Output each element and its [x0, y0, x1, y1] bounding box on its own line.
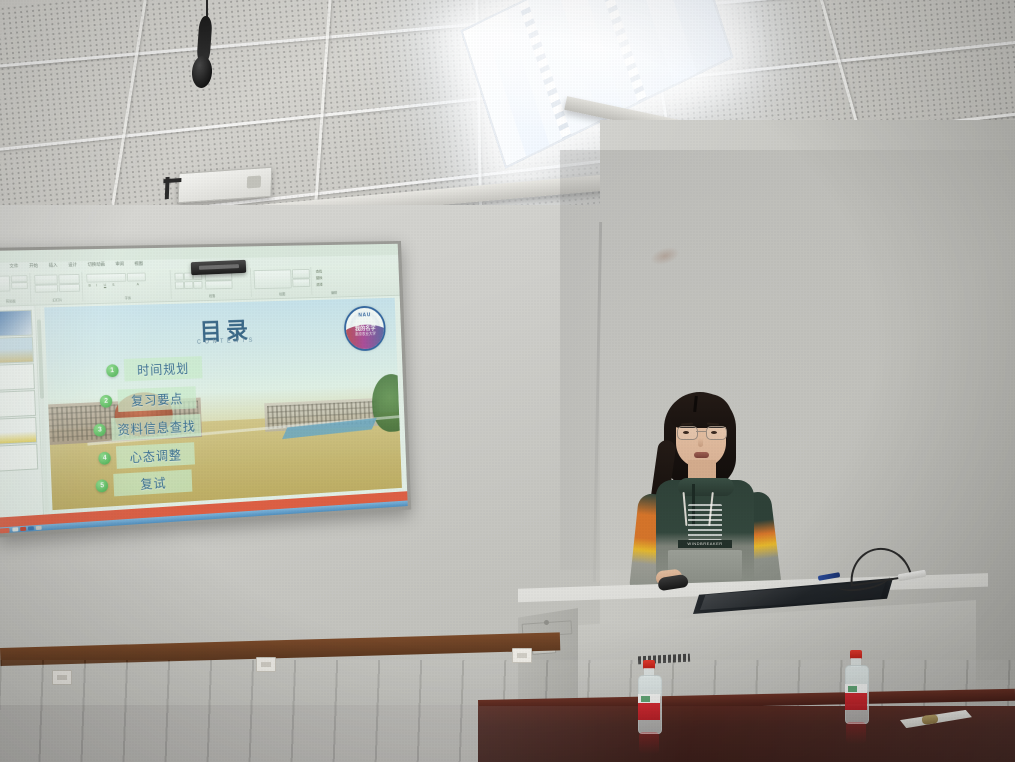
replace-button[interactable]: 替换: [316, 276, 322, 281]
convert-smartart-button[interactable]: [205, 280, 233, 289]
slide-thumbnail-5[interactable]: [0, 417, 37, 445]
slide-thumbnail-3[interactable]: [0, 363, 35, 390]
select-button[interactable]: 选择: [316, 283, 322, 288]
paste-button[interactable]: [0, 275, 10, 291]
underline-button[interactable]: U: [104, 283, 107, 287]
jacket-print: [688, 504, 722, 540]
bottle-label-right: [845, 684, 867, 710]
mouth: [694, 452, 709, 458]
slide-item-label-2: 复习要点: [117, 386, 196, 412]
font-color-button[interactable]: A: [137, 282, 139, 286]
slide-thumbnail-2[interactable]: [0, 337, 34, 364]
shapes-gallery[interactable]: [254, 269, 292, 289]
ribbon-group-drawing[interactable]: 绘图: [252, 267, 313, 297]
tab-view[interactable]: 视图: [134, 260, 143, 266]
wall-outlet-1[interactable]: [52, 670, 72, 685]
tab-design[interactable]: 设计: [68, 262, 77, 268]
taskbar-icon-explorer[interactable]: [12, 527, 18, 532]
strikethrough-button[interactable]: S: [112, 283, 114, 287]
bold-button[interactable]: B: [88, 284, 90, 288]
slide-item-number-3: 3: [93, 423, 106, 436]
water-bottle-left[interactable]: [636, 660, 662, 732]
align-left-button[interactable]: [175, 281, 185, 289]
projection-screen: 文件 开始 插入 设计 切换动画 审阅 视图 剪贴板: [0, 241, 411, 538]
align-center-button[interactable]: [184, 281, 193, 289]
speaker-bracket-vertical: [165, 177, 170, 199]
ribbon-group-label-paragraph: 段落: [172, 292, 251, 299]
bottle-reflection-left: [639, 732, 659, 754]
slide-item-number-2: 2: [100, 395, 113, 408]
ribbon-group-font[interactable]: B I U S A 字体: [83, 270, 172, 301]
slide-item-number-1: 1: [106, 364, 119, 377]
tab-transitions[interactable]: 切换动画: [87, 261, 105, 267]
section-button[interactable]: [59, 284, 80, 292]
slide-thumbnail-4[interactable]: [0, 390, 36, 418]
ribbon-group-editing[interactable]: 查找 替换 选择 编辑: [312, 266, 355, 295]
ribbon-group-slides[interactable]: 幻灯片: [31, 272, 83, 303]
align-right-button[interactable]: [193, 281, 202, 289]
nose: [698, 438, 703, 447]
projector-camera-bar: [191, 260, 247, 275]
tab-file[interactable]: 文件: [9, 263, 18, 269]
new-slide-button[interactable]: [34, 274, 58, 284]
ribbon-group-clipboard[interactable]: 剪贴板: [0, 273, 31, 304]
eye-left: [683, 431, 689, 434]
slide-canvas[interactable]: 目录 CONTENTS NAU 我的名字 南京农业大学 1 时间规划 2: [44, 298, 402, 510]
quick-styles-button[interactable]: [292, 278, 310, 287]
layout-button[interactable]: [35, 284, 59, 292]
university-logo: NAU 我的名字 南京农业大学: [344, 306, 387, 352]
taskbar-icon-browser[interactable]: [28, 526, 34, 531]
lock-icon[interactable]: [544, 620, 549, 625]
bullets-button[interactable]: [174, 273, 184, 281]
arrange-button[interactable]: [292, 269, 310, 279]
eye-right: [711, 431, 717, 434]
ribbon-group-label-clipboard: 剪贴板: [0, 298, 30, 304]
ribbon-group-label-font: 字体: [84, 294, 171, 301]
tab-insert[interactable]: 插入: [49, 262, 58, 268]
ribbon-group-label-drawing: 绘图: [253, 291, 312, 297]
water-bottle-right[interactable]: [843, 650, 869, 722]
copy-button[interactable]: [11, 282, 28, 289]
wall-outlet-3[interactable]: [512, 648, 532, 663]
slide-thumbnail-1[interactable]: [0, 310, 33, 337]
slide-item-label-3: 资料信息查找: [111, 414, 201, 441]
taskbar-icon-folder[interactable]: [36, 525, 42, 530]
tab-review[interactable]: 审阅: [115, 261, 124, 267]
speaker-grille: [247, 175, 261, 188]
slide-item-label-4: 心态调整: [116, 442, 195, 469]
slide-item-2: 2 复习要点: [99, 386, 196, 413]
find-button[interactable]: 查找: [316, 270, 322, 275]
font-size-select[interactable]: [127, 273, 146, 282]
italic-button[interactable]: I: [96, 283, 97, 287]
font-family-select[interactable]: [86, 273, 126, 283]
reset-button[interactable]: [58, 274, 80, 284]
slide-item-number-4: 4: [98, 451, 111, 464]
screen-surface: 文件 开始 插入 设计 切换动画 审阅 视图 剪贴板: [0, 244, 408, 534]
ribbon-group-label-slides: 幻灯片: [32, 297, 82, 303]
presenter: WINDBREAKER: [628, 388, 778, 588]
ribbon-group-label-editing: 编辑: [313, 289, 355, 295]
start-button-icon[interactable]: [0, 527, 10, 533]
bottle-reflection-right: [846, 722, 866, 744]
wall-outlet-2[interactable]: [256, 657, 276, 672]
logo-acronym: NAU: [346, 312, 384, 319]
tab-home[interactable]: 开始: [29, 262, 38, 268]
slide-item-1: 1 时间规划: [106, 356, 203, 382]
jacket-collar: [678, 478, 734, 496]
hair-top: [670, 394, 732, 428]
jacket-band-text: WINDBREAKER: [678, 541, 732, 546]
bottle-label-left: [638, 694, 660, 720]
taskbar-icon-powerpoint[interactable]: [20, 527, 26, 532]
powerpoint-window: 文件 开始 插入 设计 切换动画 审阅 视图 剪贴板: [0, 244, 408, 534]
slide-item-label-1: 时间规划: [124, 356, 203, 381]
slide-thumbnail-6[interactable]: [0, 444, 38, 472]
slide-item-number-5: 5: [96, 479, 109, 492]
classroom-scene: 文件 开始 插入 设计 切换动画 审阅 视图 剪贴板: [0, 0, 1015, 762]
